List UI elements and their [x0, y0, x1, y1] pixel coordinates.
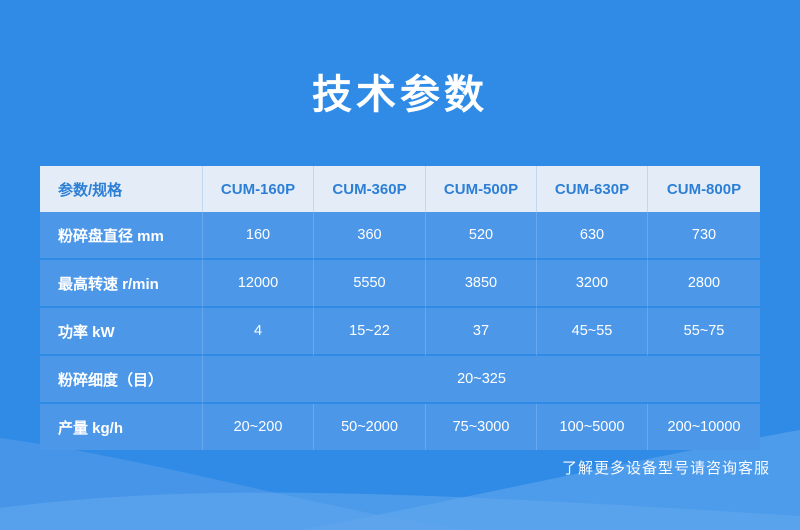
table-cell-merged: 20~325 — [203, 356, 760, 404]
table-header: 参数/规格 CUM-160P CUM-360P CUM-500P CUM-630… — [40, 166, 760, 212]
table-cell: 100~5000 — [537, 404, 648, 450]
footer-note: 了解更多设备型号请咨询客服 — [562, 457, 770, 478]
column-header-cum360p: CUM-360P — [314, 166, 426, 212]
table-cell: 360 — [314, 212, 426, 260]
table-cell: 3200 — [537, 260, 648, 308]
table-cell: 630 — [537, 212, 648, 260]
column-header-cum630p: CUM-630P — [537, 166, 648, 212]
table-cell: 55~75 — [648, 308, 760, 356]
table-cell: 4 — [203, 308, 314, 356]
page-root: 技术参数 参数/规格 CUM-160P CUM-360P CUM-500P CU… — [0, 0, 800, 530]
table-cell: 45~55 — [537, 308, 648, 356]
table-cell: 160 — [203, 212, 314, 260]
row-label: 产量 kg/h — [40, 404, 203, 450]
table-row: 产量 kg/h 20~200 50~2000 75~3000 100~5000 … — [40, 404, 760, 450]
column-header-cum160p: CUM-160P — [203, 166, 314, 212]
table-cell: 37 — [426, 308, 537, 356]
page-title: 技术参数 — [0, 68, 800, 122]
table-row: 最高转速 r/min 12000 5550 3850 3200 2800 — [40, 260, 760, 308]
spec-table: 参数/规格 CUM-160P CUM-360P CUM-500P CUM-630… — [40, 166, 760, 450]
table-header-row: 参数/规格 CUM-160P CUM-360P CUM-500P CUM-630… — [40, 166, 760, 212]
column-header-cum800p: CUM-800P — [648, 166, 760, 212]
table-row: 粉碎盘直径 mm 160 360 520 630 730 — [40, 212, 760, 260]
table-cell: 12000 — [203, 260, 314, 308]
table-cell: 2800 — [648, 260, 760, 308]
table-cell: 20~200 — [203, 404, 314, 450]
table-body: 粉碎盘直径 mm 160 360 520 630 730 最高转速 r/min … — [40, 212, 760, 450]
column-header-cum500p: CUM-500P — [426, 166, 537, 212]
table-cell: 200~10000 — [648, 404, 760, 450]
row-label: 粉碎细度（目） — [40, 356, 203, 404]
table-cell: 75~3000 — [426, 404, 537, 450]
row-label: 最高转速 r/min — [40, 260, 203, 308]
table-cell: 50~2000 — [314, 404, 426, 450]
column-header-spec: 参数/规格 — [40, 166, 203, 212]
row-label: 粉碎盘直径 mm — [40, 212, 203, 260]
table-row: 功率 kW 4 15~22 37 45~55 55~75 — [40, 308, 760, 356]
row-label: 功率 kW — [40, 308, 203, 356]
table-cell: 520 — [426, 212, 537, 260]
wave-shape-left — [0, 438, 470, 530]
table-cell: 3850 — [426, 260, 537, 308]
table-cell: 730 — [648, 212, 760, 260]
table-row: 粉碎细度（目） 20~325 — [40, 356, 760, 404]
wave-shape-bottom — [0, 493, 800, 530]
table-cell: 5550 — [314, 260, 426, 308]
table-cell: 15~22 — [314, 308, 426, 356]
